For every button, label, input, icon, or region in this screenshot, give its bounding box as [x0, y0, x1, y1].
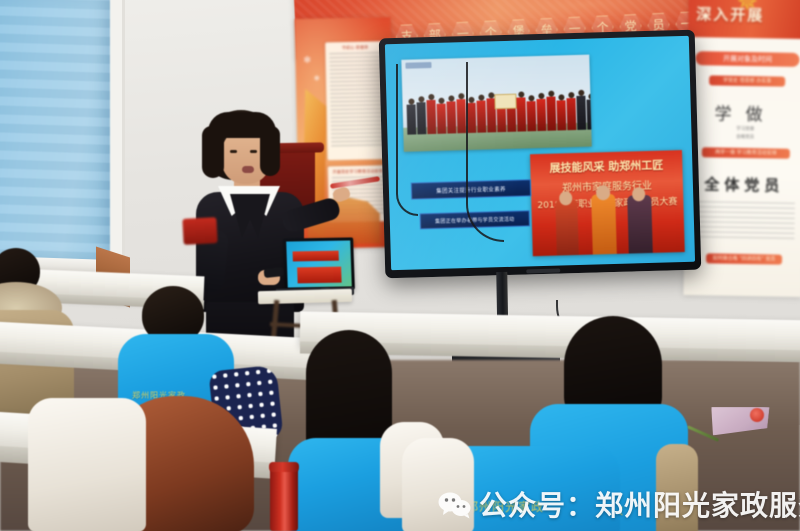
window-blind — [0, 0, 110, 264]
poster-panel-title: 守初心 担使命 — [325, 44, 385, 51]
poster-sub-left: 学习党章 — [686, 125, 800, 133]
presentation-laptop[interactable] — [283, 237, 355, 290]
poster-big-chars: 学做 — [686, 99, 800, 126]
wechat-icon — [438, 491, 470, 517]
photo-person — [586, 94, 591, 130]
poster-section-label: 开展对象及时间 — [695, 51, 799, 67]
presenter-eye-left — [230, 150, 237, 153]
watermark-text: 公众号：郑州阳光家政服务公司 — [479, 484, 800, 524]
poster-big-2: 全体党员 — [685, 173, 800, 196]
attendee-long-hair — [288, 330, 416, 530]
poster-tag-3: 如何做合格 "四讲四有" 党员 — [706, 253, 782, 264]
dove-icon: ✻ — [303, 55, 311, 66]
presenter-hair-side-left — [202, 126, 224, 178]
poster-char-zuo: 做 — [745, 105, 776, 126]
poster-header-text: 深入开展 — [696, 3, 764, 25]
blind-slats — [0, 0, 110, 264]
poster-tag-1: 学党史 悟思想 办实事 — [709, 75, 785, 86]
tv-cable-left — [396, 64, 418, 216]
poster-panel-lines — [329, 52, 383, 149]
stage-person-right — [627, 195, 653, 254]
screenshot-root: ★ 一个支部一个堡垒一个党员一面旗帜 ✻ ✻ 守初心 担使命 开展党史学习教育活… — [0, 0, 800, 531]
poster-body-text — [694, 201, 795, 243]
tv-screen: 展技能风采 助郑州工匠 郑州市家庭服务行业 2018年度职业技能家政服务员大赛 … — [385, 36, 695, 270]
dove-icon: ✻ — [314, 75, 320, 83]
wechat-watermark: 公众号：郑州阳光家政服务公司 — [438, 484, 800, 524]
poster-panel-title-2: 开展党史学习教育活动安排 — [328, 168, 388, 175]
stage-person-center — [591, 194, 617, 255]
attendee-white-coat — [28, 398, 146, 531]
presenter-mouth — [242, 166, 254, 173]
poster-tag-2: 两学一做 学习教育活动安排 — [702, 147, 790, 159]
poster-text-panel-1: 守初心 担使命 — [325, 41, 387, 160]
presenter-hair-side-right — [260, 126, 280, 176]
laptop-screen-content — [286, 240, 352, 287]
presentation-display[interactable]: 展技能风采 助郑州工匠 郑州市家庭服务行业 2018年度职业技能家政服务员大赛 … — [379, 30, 702, 279]
poster-sub-right: 合格党员 — [686, 133, 800, 141]
party-education-poster: ✵ 深入开展 开展对象及时间 学党史 悟思想 办实事 学做 学习党章 合格党员 … — [683, 0, 800, 297]
thermos-cap — [269, 462, 299, 472]
red-handbag — [182, 217, 217, 245]
poster-char-xue: 学 — [714, 104, 745, 125]
presenter-eye-right — [250, 150, 257, 153]
tv-cable-center — [466, 62, 504, 242]
red-thermos-flask — [270, 466, 298, 531]
